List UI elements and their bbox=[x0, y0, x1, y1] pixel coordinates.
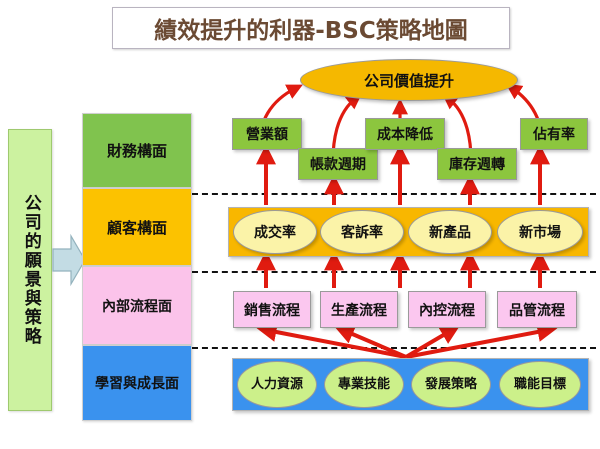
learning-item-professional-skills[interactable]: 專業技能 bbox=[324, 361, 404, 408]
financial-item-label: 帳款週期 bbox=[310, 154, 366, 174]
customer-item-close-rate[interactable]: 成交率 bbox=[233, 210, 317, 254]
perspective-label-learning: 學習與成長面 bbox=[95, 373, 179, 393]
process-item-label: 銷售流程 bbox=[244, 300, 300, 320]
financial-item-cost-reduction[interactable]: 成本降低 bbox=[365, 118, 445, 150]
company-value-goal[interactable]: 公司價值提升 bbox=[300, 59, 518, 101]
perspective-label-customer: 顧客構面 bbox=[107, 217, 167, 238]
page-title-box: 績效提升的利器-BSC策略地圖 bbox=[112, 7, 510, 49]
vision-strategy-label: 公司的願景與策略 bbox=[20, 194, 40, 346]
learning-item-label: 職能目標 bbox=[514, 378, 566, 392]
financial-item-label: 庫存週轉 bbox=[449, 154, 505, 174]
customer-item-complaint-rate[interactable]: 客訴率 bbox=[320, 210, 404, 254]
process-item-label: 生產流程 bbox=[331, 300, 387, 320]
process-item-internal-control[interactable]: 內控流程 bbox=[408, 291, 486, 328]
perspective-band-learning: 學習與成長面 bbox=[82, 345, 192, 421]
financial-item-label: 成本降低 bbox=[377, 124, 433, 144]
financial-item-label: 佔有率 bbox=[533, 124, 575, 144]
perspective-band-financial: 財務構面 bbox=[82, 113, 192, 188]
customer-item-label: 新產品 bbox=[429, 222, 471, 242]
customer-item-label: 新市場 bbox=[519, 222, 561, 242]
financial-item-receivable-cycle[interactable]: 帳款週期 bbox=[298, 148, 378, 180]
customer-item-new-market[interactable]: 新市場 bbox=[497, 210, 583, 254]
perspective-label-financial: 財務構面 bbox=[107, 140, 167, 161]
customer-item-new-product[interactable]: 新產品 bbox=[408, 210, 492, 254]
process-item-quality-control[interactable]: 品管流程 bbox=[497, 291, 577, 328]
process-item-label: 內控流程 bbox=[419, 300, 475, 320]
vision-strategy-panel: 公司的願景與策略 bbox=[8, 129, 52, 411]
process-item-sales[interactable]: 銷售流程 bbox=[233, 291, 311, 328]
learning-item-label: 發展策略 bbox=[425, 378, 477, 392]
separator-financial-customer bbox=[192, 193, 596, 195]
financial-item-market-share[interactable]: 佔有率 bbox=[520, 118, 588, 150]
company-value-goal-label: 公司價值提升 bbox=[364, 70, 454, 91]
perspective-band-customer: 顧客構面 bbox=[82, 188, 192, 266]
learning-item-human-resources[interactable]: 人力資源 bbox=[237, 361, 317, 408]
learning-item-competency-goals[interactable]: 職能目標 bbox=[499, 361, 581, 408]
perspective-band-process: 內部流程面 bbox=[82, 266, 192, 345]
separator-process-learning bbox=[192, 347, 596, 349]
learning-item-label: 專業技能 bbox=[338, 378, 390, 392]
learning-item-label: 人力資源 bbox=[251, 378, 303, 392]
financial-item-label: 營業額 bbox=[246, 124, 288, 144]
page-title: 績效提升的利器-BSC策略地圖 bbox=[154, 11, 468, 45]
process-item-label: 品管流程 bbox=[509, 300, 565, 320]
customer-item-label: 成交率 bbox=[254, 222, 296, 242]
financial-item-inventory-turnover[interactable]: 庫存週轉 bbox=[437, 148, 517, 180]
right-arrow-icon bbox=[52, 232, 86, 288]
financial-item-revenue[interactable]: 營業額 bbox=[232, 118, 302, 150]
learning-item-development-strategy[interactable]: 發展策略 bbox=[411, 361, 491, 408]
process-item-production[interactable]: 生產流程 bbox=[320, 291, 398, 328]
separator-customer-process bbox=[192, 271, 596, 273]
customer-item-label: 客訴率 bbox=[341, 222, 383, 242]
perspective-label-process: 內部流程面 bbox=[102, 296, 172, 316]
